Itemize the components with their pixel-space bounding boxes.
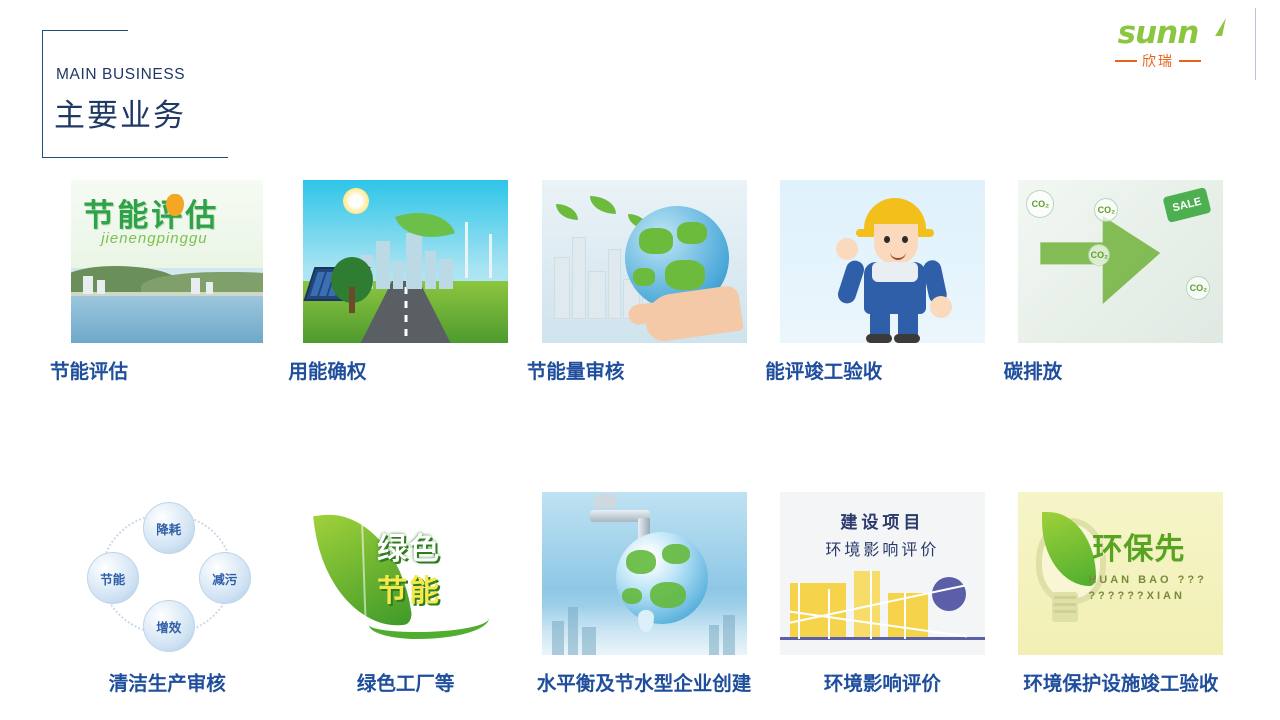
sale-tag: SALE — [1163, 187, 1212, 223]
page-title-block: MAIN BUSINESS 主要业务 — [42, 30, 242, 158]
page-title-cn: 主要业务 — [54, 90, 186, 135]
thumb-pinyin-text: jienengpinggu — [101, 230, 207, 247]
company-logo: sunn 欣瑞 — [1088, 16, 1228, 78]
business-item-energy-use-rights[interactable]: 用能确权 — [286, 180, 524, 384]
business-row-2: 降耗 节能 减污 增效 清洁生产审核 绿色 节能 绿色工厂等 — [0, 492, 1280, 696]
logo-subtitle-text: 欣瑞 — [1142, 51, 1174, 71]
thumb-title-text: 节能评估 — [83, 190, 219, 235]
thumb-title-text: 环保先 — [1092, 524, 1185, 568]
business-item-completion-acceptance[interactable]: 能评竣工验收 — [763, 180, 1001, 384]
business-caption: 清洁生产审核 — [109, 667, 226, 696]
globe-icon — [616, 532, 708, 624]
business-item-water-balance[interactable]: 水平衡及节水型企业创建 — [525, 492, 763, 696]
thumb-line-1: 建设项目 — [840, 508, 924, 533]
cycle-bubble-bottom: 增效 — [143, 600, 195, 652]
thumbnail-energy-savings-audit — [542, 180, 747, 343]
business-item-cleaner-production-audit[interactable]: 降耗 节能 减污 增效 清洁生产审核 — [48, 492, 286, 696]
thumbnail-water-balance — [542, 492, 747, 655]
business-item-energy-saving-assessment[interactable]: 节能评估 jienengpinggu 节能评估 — [48, 180, 286, 384]
business-grid: 节能评估 jienengpinggu 节能评估 — [0, 180, 1280, 696]
thumbnail-energy-saving-assessment: 节能评估 jienengpinggu — [71, 180, 263, 343]
logo-rule-right-icon — [1179, 60, 1201, 62]
thumbnail-completion-acceptance — [780, 180, 985, 343]
logo-divider — [1255, 8, 1256, 80]
thumb-line-2: 环境影响评价 — [825, 536, 939, 560]
page-title-en: MAIN BUSINESS — [56, 66, 185, 84]
thumb-pinyin-line-1: HUAN BAO ??? — [1088, 574, 1207, 586]
business-caption: 绿色工厂等 — [357, 667, 455, 696]
business-caption: 节能量审核 — [527, 355, 625, 384]
logo-subtitle: 欣瑞 — [1088, 51, 1228, 71]
thumb-line-1: 绿色 — [377, 524, 441, 568]
business-item-energy-savings-audit[interactable]: 节能量审核 — [525, 180, 763, 384]
thumbnail-eia: 建设项目 环境影响评价 — [780, 492, 985, 655]
business-row-1: 节能评估 jienengpinggu 节能评估 — [0, 180, 1280, 384]
cycle-bubble-right: 减污 — [199, 552, 251, 604]
cycle-bubble-top: 降耗 — [143, 502, 195, 554]
business-caption: 碳排放 — [1004, 355, 1063, 384]
business-item-green-factory[interactable]: 绿色 节能 绿色工厂等 — [286, 492, 524, 696]
business-caption: 节能评估 — [50, 355, 128, 384]
thumbnail-environmental-facility-acceptance: 环保先 HUAN BAO ??? ??????XIAN — [1018, 492, 1223, 655]
business-caption: 能评竣工验收 — [765, 355, 882, 384]
business-item-carbon-emission[interactable]: CO₂ CO₂ CO₂ CO₂ SALE 碳排放 — [1002, 180, 1240, 384]
business-caption: 用能确权 — [288, 355, 366, 384]
thumb-pinyin-line-2: ??????XIAN — [1088, 590, 1185, 602]
thumbnail-cleaner-production-audit: 降耗 节能 减污 增效 — [65, 492, 270, 655]
co2-bubble: CO₂ — [1026, 190, 1054, 218]
business-item-eia[interactable]: 建设项目 环境影响评价 环境影响评价 — [763, 492, 1001, 696]
water-drop-icon — [638, 610, 654, 632]
logo-rule-left-icon — [1115, 60, 1137, 62]
thumbnail-carbon-emission: CO₂ CO₂ CO₂ CO₂ SALE — [1018, 180, 1223, 343]
co2-bubble: CO₂ — [1186, 276, 1210, 300]
thumbnail-green-factory: 绿色 节能 — [303, 492, 508, 655]
thumbnail-energy-use-rights — [303, 180, 508, 343]
logo-wordmark: sunn — [1088, 16, 1228, 50]
business-caption: 水平衡及节水型企业创建 — [537, 667, 752, 696]
business-caption: 环境影响评价 — [824, 667, 941, 696]
business-item-environmental-facility-acceptance[interactable]: 环保先 HUAN BAO ??? ??????XIAN 环境保护设施竣工验收 — [1002, 492, 1240, 696]
title-underline-decoration — [42, 157, 228, 158]
co2-bubble: CO₂ — [1094, 198, 1118, 222]
cycle-bubble-left: 节能 — [87, 552, 139, 604]
business-caption: 环境保护设施竣工验收 — [1023, 667, 1218, 696]
valve-icon — [594, 494, 616, 508]
